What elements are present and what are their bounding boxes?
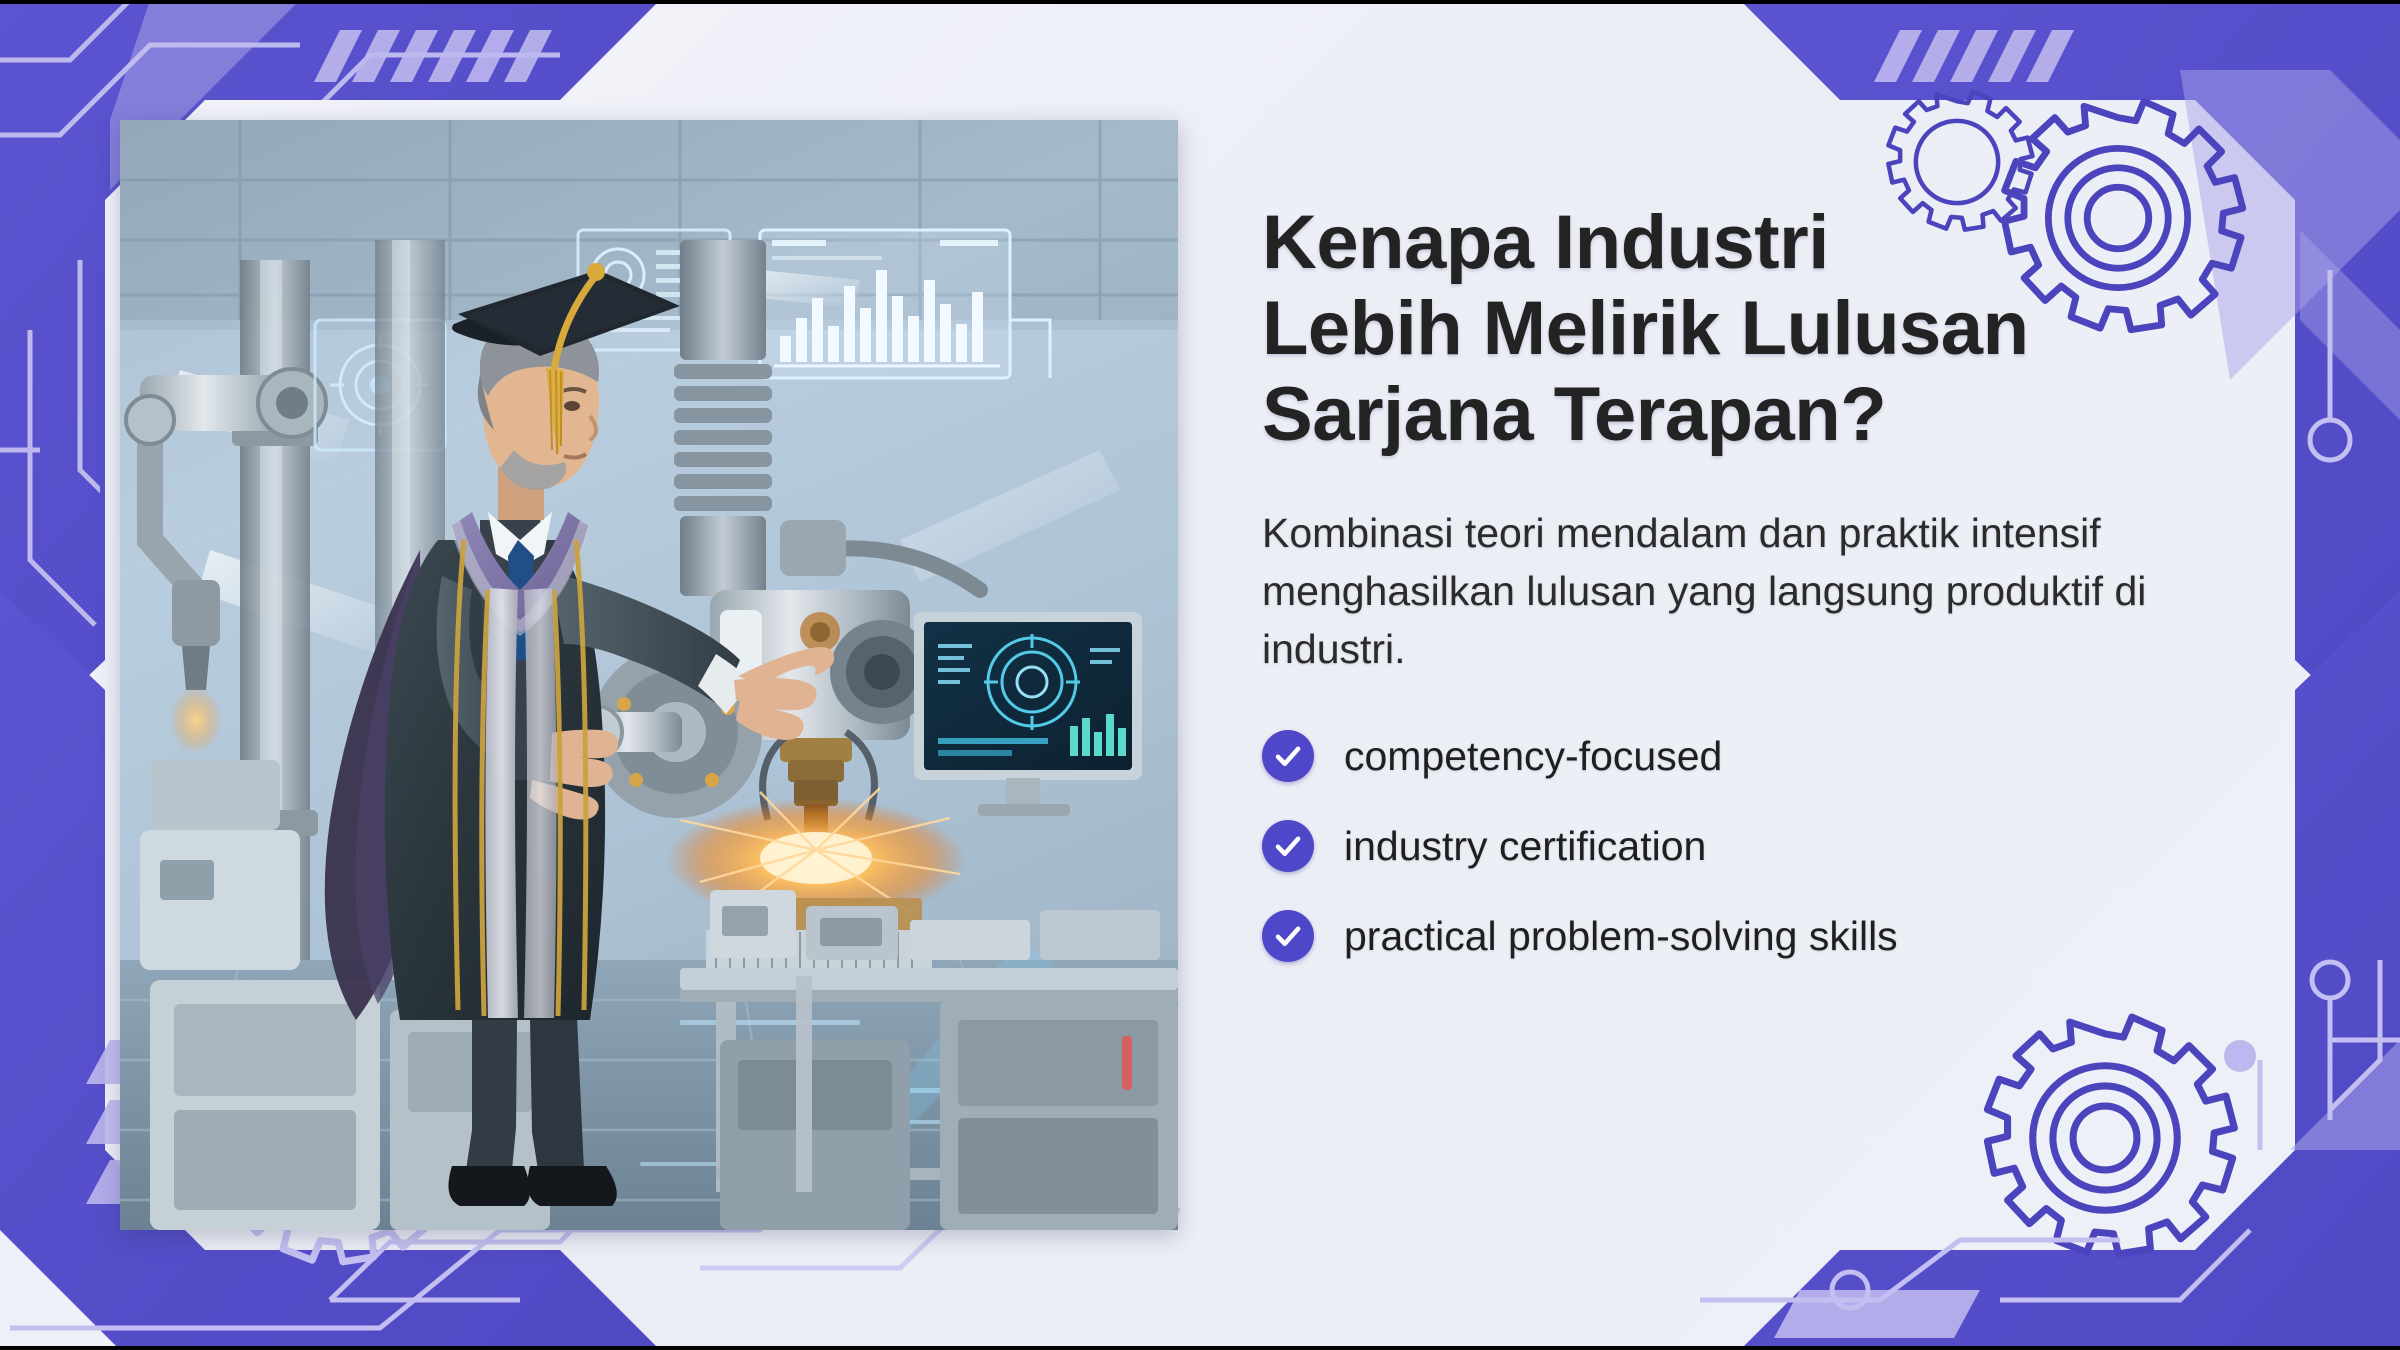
- graduate-in-factory-illustration: [120, 120, 1178, 1230]
- check-circle-icon: [1262, 820, 1314, 872]
- benefits-list: competency-focused industry certificatio…: [1262, 730, 2282, 962]
- subtitle-text: Kombinasi teori mendalam dan praktik int…: [1262, 504, 2222, 679]
- headline-line-2: Lebih Melirik Lulusan: [1262, 286, 2282, 372]
- text-column: Kenapa Industri Lebih Melirik Lulusan Sa…: [1262, 200, 2282, 1000]
- check-circle-icon: [1262, 910, 1314, 962]
- list-item: competency-focused: [1262, 730, 2282, 782]
- list-item: practical problem-solving skills: [1262, 910, 2282, 962]
- headline-line-3: Sarjana Terapan?: [1262, 372, 2282, 458]
- list-item-label: practical problem-solving skills: [1344, 912, 1898, 961]
- list-item-label: competency-focused: [1344, 732, 1722, 781]
- check-circle-icon: [1262, 730, 1314, 782]
- list-item: industry certification: [1262, 820, 2282, 872]
- illustration-canvas: [120, 120, 1178, 1230]
- list-item-label: industry certification: [1344, 822, 1706, 871]
- gear-large-bottom-right-icon: [1987, 1017, 2234, 1254]
- slide-canvas: Kenapa Industri Lebih Melirik Lulusan Sa…: [0, 0, 2400, 1350]
- page-title: Kenapa Industri Lebih Melirik Lulusan Sa…: [1262, 200, 2282, 458]
- headline-line-1: Kenapa Industri: [1262, 200, 2282, 286]
